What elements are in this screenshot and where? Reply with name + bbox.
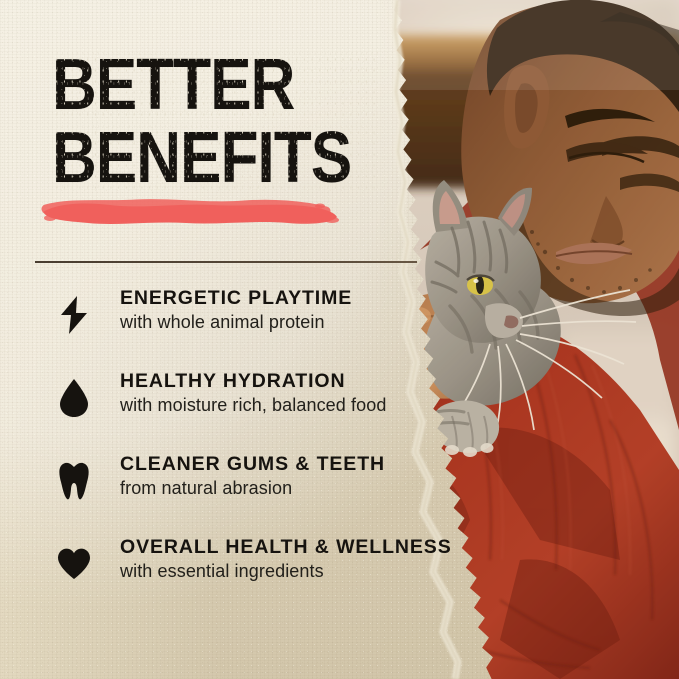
benefit-subtext: with whole animal protein [120, 312, 422, 334]
poster-canvas: BETTER BENEFITS ENERGETIC PLAYTIME with … [0, 0, 679, 679]
brush-underline [40, 196, 340, 230]
tooth-icon [52, 458, 96, 504]
horizontal-divider [35, 261, 417, 263]
text-content: BETTER BENEFITS ENERGETIC PLAYTIME with … [0, 0, 430, 679]
benefit-item: HEALTHY HYDRATION with moisture rich, ba… [52, 371, 422, 455]
water-droplet-icon [52, 375, 96, 421]
benefit-subtext: with essential ingredients [120, 561, 422, 583]
lightning-bolt-icon [52, 292, 96, 338]
benefit-subtext: from natural abrasion [120, 478, 422, 500]
benefit-heading: OVERALL HEALTH & WELLNESS [120, 537, 422, 558]
title-block: BETTER BENEFITS [52, 52, 432, 192]
benefit-heading: HEALTHY HYDRATION [120, 371, 422, 392]
benefit-item: CLEANER GUMS & TEETH from natural abrasi… [52, 454, 422, 538]
benefit-item: OVERALL HEALTH & WELLNESS with essential… [52, 537, 422, 621]
benefit-subtext: with moisture rich, balanced food [120, 395, 422, 417]
heart-icon [52, 541, 96, 587]
benefit-heading: ENERGETIC PLAYTIME [120, 288, 422, 309]
benefit-item: ENERGETIC PLAYTIME with whole animal pro… [52, 288, 422, 372]
benefit-heading: CLEANER GUMS & TEETH [120, 454, 422, 475]
title-line-2: BENEFITS [52, 125, 379, 192]
title-line-1: BETTER [52, 52, 379, 119]
